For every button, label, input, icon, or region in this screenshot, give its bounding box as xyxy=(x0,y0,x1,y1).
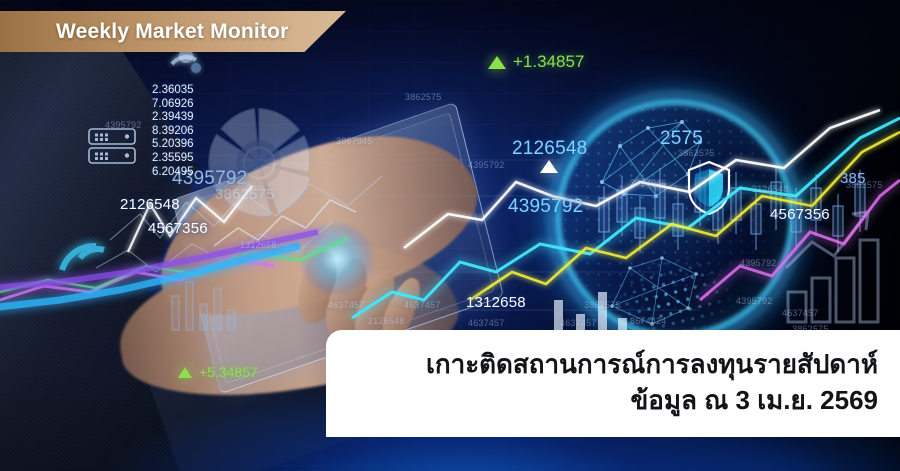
number-list-item: 7.06926 xyxy=(152,98,194,112)
page-title: Weekly Market Monitor xyxy=(0,11,346,52)
floating-number: 8674424 xyxy=(630,316,666,326)
floating-number: 2126548 xyxy=(368,316,404,326)
number-list-item: 2.36035 xyxy=(152,84,194,98)
number-list-item: 5.20396 xyxy=(152,138,194,152)
floating-number: 4395792 xyxy=(468,160,504,170)
top-change-value: +1.34857 xyxy=(513,52,584,72)
floating-number: 4637457 xyxy=(468,318,504,328)
floating-number: 4395792 xyxy=(740,258,776,268)
floating-number: 2126548 xyxy=(752,184,788,194)
status-badge-top-change: +1.34857 xyxy=(488,52,584,72)
floating-number: 1312658 xyxy=(240,240,276,250)
floating-number: 3862575 xyxy=(678,148,714,158)
triangle-up-icon xyxy=(540,160,558,173)
floating-number: 4567356 xyxy=(148,220,208,237)
floating-number: 3862575 xyxy=(584,300,620,310)
number-list-item: 2.35595 xyxy=(152,152,194,166)
triangle-up-icon xyxy=(488,56,506,69)
floating-number: 3862575 xyxy=(846,180,882,190)
market-monitor-banner: 4395792439579238625752126548456735638625… xyxy=(0,0,900,471)
number-list-item: 6.20495 xyxy=(152,166,194,180)
floating-number: 4395792 xyxy=(508,196,583,218)
number-list-item: 2.39439 xyxy=(152,111,194,125)
floating-number: 3862575 xyxy=(405,92,441,102)
marker-white-triangle xyxy=(540,160,558,173)
floating-number: 4395792 xyxy=(736,296,772,306)
triangle-up-icon xyxy=(178,367,192,378)
floating-number: 3967946 xyxy=(630,178,666,188)
floating-number: 4395792 xyxy=(105,120,141,130)
floating-number: 2126548 xyxy=(512,138,587,160)
floating-number: 4567356 xyxy=(770,206,830,223)
caption-card: เกาะติดสถานการณ์การลงทุนรายสัปดาห์ ข้อมู… xyxy=(326,330,900,437)
caption-line-1: เกาะติดสถานการณ์การลงทุนรายสัปดาห์ xyxy=(426,346,878,382)
floating-number: 3967945 xyxy=(336,136,372,146)
status-badge-bottom-change: +5.34857 xyxy=(178,364,258,380)
number-list-item: 8.39206 xyxy=(152,125,194,139)
floating-number: 4637457 xyxy=(782,308,818,318)
floating-number: 4637457 xyxy=(328,300,364,310)
floating-number: 4637457 xyxy=(404,300,440,310)
floating-number: 1312658 xyxy=(466,294,526,311)
floating-number: 2575 xyxy=(660,128,703,150)
floating-number: 4637457 xyxy=(560,318,596,328)
caption-line-2: ข้อมูล ณ 3 เม.ย. 2569 xyxy=(631,382,878,418)
floating-number: 3862575 xyxy=(215,186,275,203)
bottom-change-value: +5.34857 xyxy=(199,364,258,380)
number-list: 2.360357.069262.394398.392065.203962.355… xyxy=(152,84,194,179)
floating-number: 2126548 xyxy=(120,196,180,213)
